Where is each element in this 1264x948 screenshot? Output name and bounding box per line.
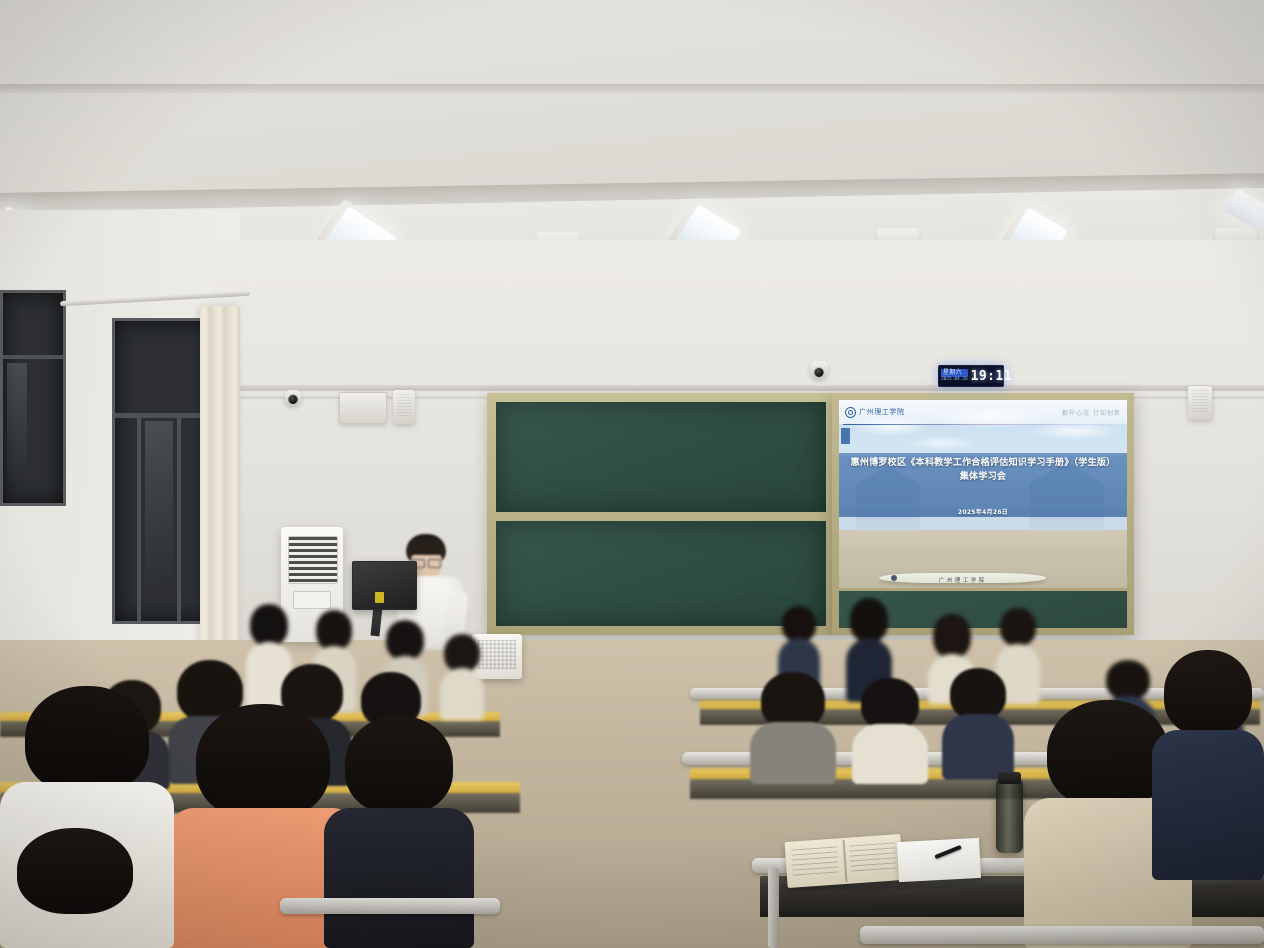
notebook-left-page-lines — [791, 846, 839, 879]
person-head — [444, 634, 480, 672]
window-mullion-vertical-1 — [137, 417, 141, 621]
audience-person — [750, 672, 836, 784]
open-notebook — [785, 834, 904, 888]
person-head — [345, 716, 453, 814]
bench-leg — [768, 868, 779, 948]
person-head — [950, 668, 1006, 720]
slide-motto-text: 勤朴心志 行知创新 — [1062, 408, 1121, 417]
slide-title-line-2: 集体学习会 — [845, 470, 1121, 484]
clock-date-block: 星期六 2025.04.26 — [941, 369, 968, 382]
window-curtain[interactable] — [200, 306, 240, 666]
person-head — [933, 614, 971, 658]
security-camera-right — [810, 361, 828, 379]
person-head — [861, 678, 919, 730]
person-head — [386, 620, 424, 660]
window-mullion-vertical-2 — [177, 417, 181, 621]
blackboard-panel-bottom — [496, 521, 826, 626]
classroom-photo: 星期六 2025.04.26 19:11 广州理工学院 广州理工学院 勤 — [0, 0, 1264, 948]
clock-weekday: 星期六 — [941, 369, 968, 377]
water-bottle-cap — [998, 772, 1021, 784]
blackboard-panel-top — [496, 402, 826, 512]
person-head — [1000, 608, 1036, 646]
person-head — [1047, 700, 1169, 808]
clock-time: 19:11 — [971, 369, 1012, 384]
person-torso — [942, 714, 1014, 780]
ceiling-seam — [0, 84, 1264, 93]
person-torso — [440, 668, 484, 720]
person-head — [1164, 650, 1252, 736]
slide-side-tab — [841, 428, 850, 444]
slide-campus-gate-wall: 广州理工学院 — [879, 573, 1046, 582]
camera-lens-icon — [814, 367, 825, 378]
water-bottle — [996, 779, 1023, 853]
seat-back-rail — [280, 898, 500, 914]
presentation-slide[interactable]: 广州理工学院 广州理工学院 勤朴心志 行知创新 惠州博罗校区《本科教学工作合格评… — [839, 400, 1127, 588]
person-head — [782, 606, 816, 642]
person-torso — [1152, 730, 1264, 880]
lectern-monitor — [352, 561, 417, 610]
window-reflection — [145, 421, 173, 591]
audience-person — [440, 634, 484, 720]
monitor-clip — [375, 592, 384, 603]
bench-rail-right-front — [860, 926, 1264, 944]
wall-speaker-left — [393, 390, 415, 424]
window-mullion — [3, 355, 63, 359]
ac-control-panel — [293, 591, 331, 609]
slide-title-line-1: 惠州博罗校区《本科教学工作合格评估知识学习手册》（学生版） — [845, 456, 1121, 470]
slide-gate-text: 广州理工学院 — [879, 576, 1046, 584]
person-torso — [750, 722, 836, 784]
person-head — [316, 610, 352, 650]
person-head — [17, 828, 133, 914]
ac-vent-grill — [288, 536, 338, 584]
university-emblem-icon — [845, 407, 856, 418]
person-head — [250, 604, 288, 646]
window-reflection — [7, 363, 27, 483]
loose-paper-sheet — [897, 838, 981, 882]
electrical-box — [339, 392, 387, 424]
presenter-fringe — [407, 538, 445, 555]
slide-header-bar: 广州理工学院 勤朴心志 行知创新 — [839, 400, 1127, 424]
slide-header-rule — [843, 424, 1119, 425]
audience-person — [942, 668, 1014, 780]
slide-logo-text: 广州理工学院 — [859, 407, 905, 417]
audience-person-foreground — [1152, 650, 1264, 880]
camera-lens-icon — [288, 394, 299, 405]
slide-campus-ground: 广州理工学院 — [839, 530, 1127, 588]
blackboard — [487, 393, 835, 635]
person-head — [1106, 660, 1150, 700]
notebook-right-page-lines — [849, 842, 897, 875]
window-left-far — [0, 290, 66, 506]
audience-person-foreground — [0, 828, 150, 948]
person-head — [850, 598, 888, 642]
wall-speaker-right — [1188, 386, 1212, 420]
audience-person — [852, 678, 928, 784]
person-torso — [324, 808, 474, 948]
slide-title: 惠州博罗校区《本科教学工作合格评估知识学习手册》（学生版） 集体学习会 — [845, 456, 1121, 484]
person-torso — [852, 724, 928, 784]
slide-date: 2025年4月26日 — [839, 507, 1127, 516]
person-head — [25, 686, 149, 794]
clock-date: 2025.04.26 — [941, 377, 968, 383]
security-camera-left — [285, 390, 301, 406]
led-clock-display: 星期六 2025.04.26 19:11 — [938, 365, 1004, 387]
seat-back-rail — [860, 926, 1264, 944]
person-head — [196, 704, 330, 820]
bench-rail-left-front — [280, 898, 500, 914]
